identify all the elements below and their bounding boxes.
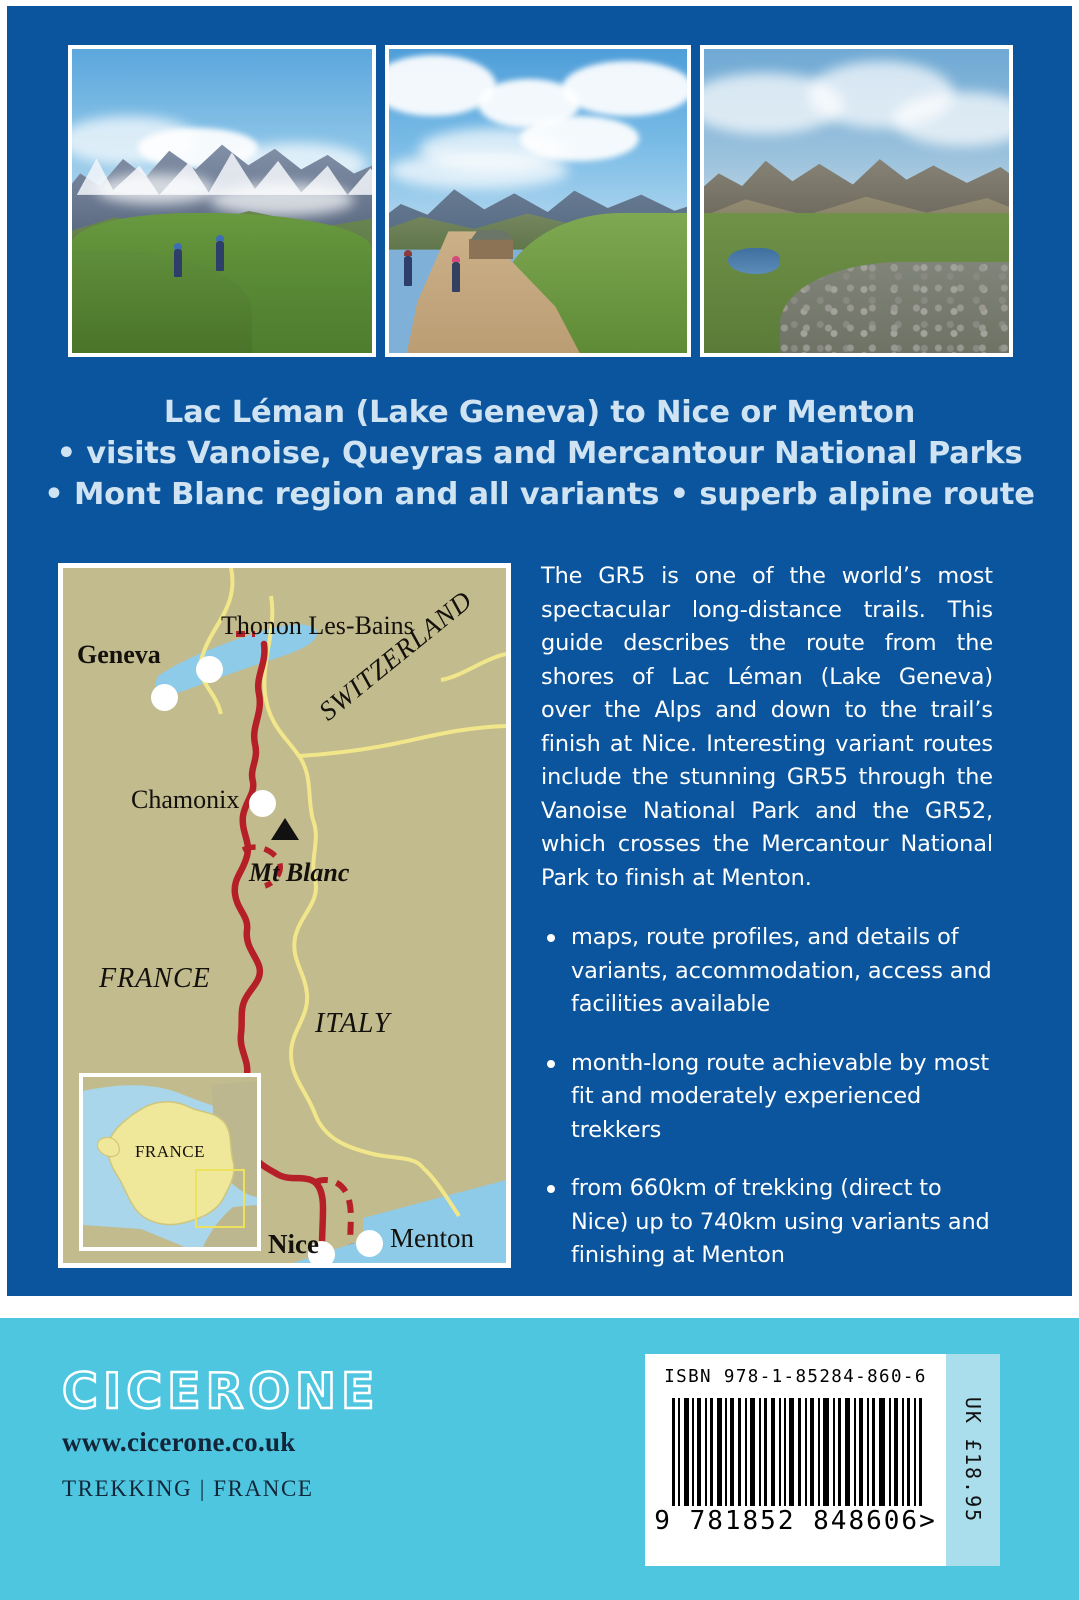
- feature-item: month-long route achievable by most fit …: [541, 1047, 993, 1148]
- feature-item: from 660km of trekking (direct to Nice) …: [541, 1172, 993, 1273]
- price-panel: UK £18.95: [946, 1354, 1000, 1566]
- border-france-switzerland-west: [200, 568, 232, 714]
- map-label-france: FRANCE: [99, 963, 211, 995]
- map-label-thonon: Thonon Les-Bains: [221, 611, 414, 641]
- cover-right-edge: [1072, 0, 1079, 1296]
- barcode-bars: [672, 1398, 922, 1506]
- bullet-icon: [547, 934, 555, 942]
- photo-alpine-valley-with-tarn: [700, 45, 1013, 357]
- city-marker-menton: [356, 1230, 383, 1257]
- photo-hikers-in-alpine-meadow: [68, 45, 376, 357]
- inset-locator-rectangle: [195, 1169, 245, 1228]
- barcode-area: ISBN 978-1-85284-860-6: [645, 1354, 946, 1566]
- book-back-cover: Lac Léman (Lake Geneva) to Nice or Mento…: [0, 0, 1079, 1600]
- book-category: TREKKING | FRANCE: [62, 1476, 482, 1502]
- map-label-menton: Menton: [390, 1223, 474, 1254]
- france-locator-inset: FRANCE: [79, 1073, 261, 1251]
- border-ne: [441, 654, 506, 680]
- feature-text: from 660km of trekking (direct to Nice) …: [571, 1175, 990, 1268]
- cover-left-edge: [0, 0, 7, 1296]
- barcode-digits: 9 781852 848606>: [645, 1506, 946, 1536]
- hiker-figure: [216, 241, 224, 271]
- map-label-geneva: Geneva: [77, 640, 161, 670]
- publisher-block: CICERONE www.cicerone.co.uk TREKKING | F…: [62, 1366, 482, 1502]
- price-text: UK £18.95: [961, 1397, 985, 1523]
- city-marker-geneva: [151, 684, 178, 711]
- cover-top-edge: [0, 0, 1079, 6]
- headline-line-3: • Mont Blanc region and all variants • s…: [0, 474, 1079, 515]
- mountain-refuge: [469, 239, 513, 259]
- feature-list: maps, route profiles, and details of var…: [541, 921, 993, 1273]
- hiker-figure: [404, 256, 412, 286]
- barcode-block: ISBN 978-1-85284-860-6: [645, 1354, 1000, 1566]
- blurb-paragraph: The GR5 is one of the world’s most spect…: [541, 560, 993, 895]
- map-label-mt-blanc: Mt Blanc: [249, 858, 349, 888]
- mt-blanc-peak-icon: [271, 818, 299, 840]
- feature-text: maps, route profiles, and details of var…: [571, 924, 992, 1017]
- map-label-nice: Nice: [268, 1229, 319, 1260]
- description-column: The GR5 is one of the world’s most spect…: [541, 560, 993, 1298]
- inset-label-france: FRANCE: [135, 1142, 205, 1162]
- footer-band: CICERONE www.cicerone.co.uk TREKKING | F…: [0, 1318, 1079, 1600]
- bullet-icon: [547, 1060, 555, 1068]
- feature-text: month-long route achievable by most fit …: [571, 1050, 989, 1143]
- border-switzerland-italy: [299, 726, 506, 756]
- headline-line-2: • visits Vanoise, Queyras and Mercantour…: [0, 433, 1079, 474]
- map-label-italy: ITALY: [315, 1008, 391, 1040]
- publisher-website: www.cicerone.co.uk: [62, 1427, 482, 1458]
- headline-block: Lac Léman (Lake Geneva) to Nice or Mento…: [0, 392, 1079, 515]
- headline-line-1: Lac Léman (Lake Geneva) to Nice or Mento…: [0, 392, 1079, 433]
- city-marker-thonon: [196, 656, 223, 683]
- photo-hikers-on-trail-to-refuge: [385, 45, 691, 357]
- hiker-figure: [174, 249, 182, 277]
- route-map: Geneva Thonon Les-Bains Chamonix Mt Blan…: [63, 568, 506, 1263]
- photo-strip: [68, 45, 1013, 357]
- isbn-text: ISBN 978-1-85284-860-6: [645, 1367, 946, 1387]
- map-label-chamonix: Chamonix: [131, 785, 239, 815]
- footer-divider: [0, 1296, 1079, 1318]
- alpine-tarn: [728, 248, 780, 274]
- cicerone-logo: CICERONE: [62, 1366, 482, 1417]
- route-map-panel: Geneva Thonon Les-Bains Chamonix Mt Blan…: [58, 563, 511, 1268]
- feature-item: maps, route profiles, and details of var…: [541, 921, 993, 1022]
- hiker-figure: [452, 262, 460, 292]
- city-marker-chamonix: [249, 790, 276, 817]
- bullet-icon: [547, 1185, 555, 1193]
